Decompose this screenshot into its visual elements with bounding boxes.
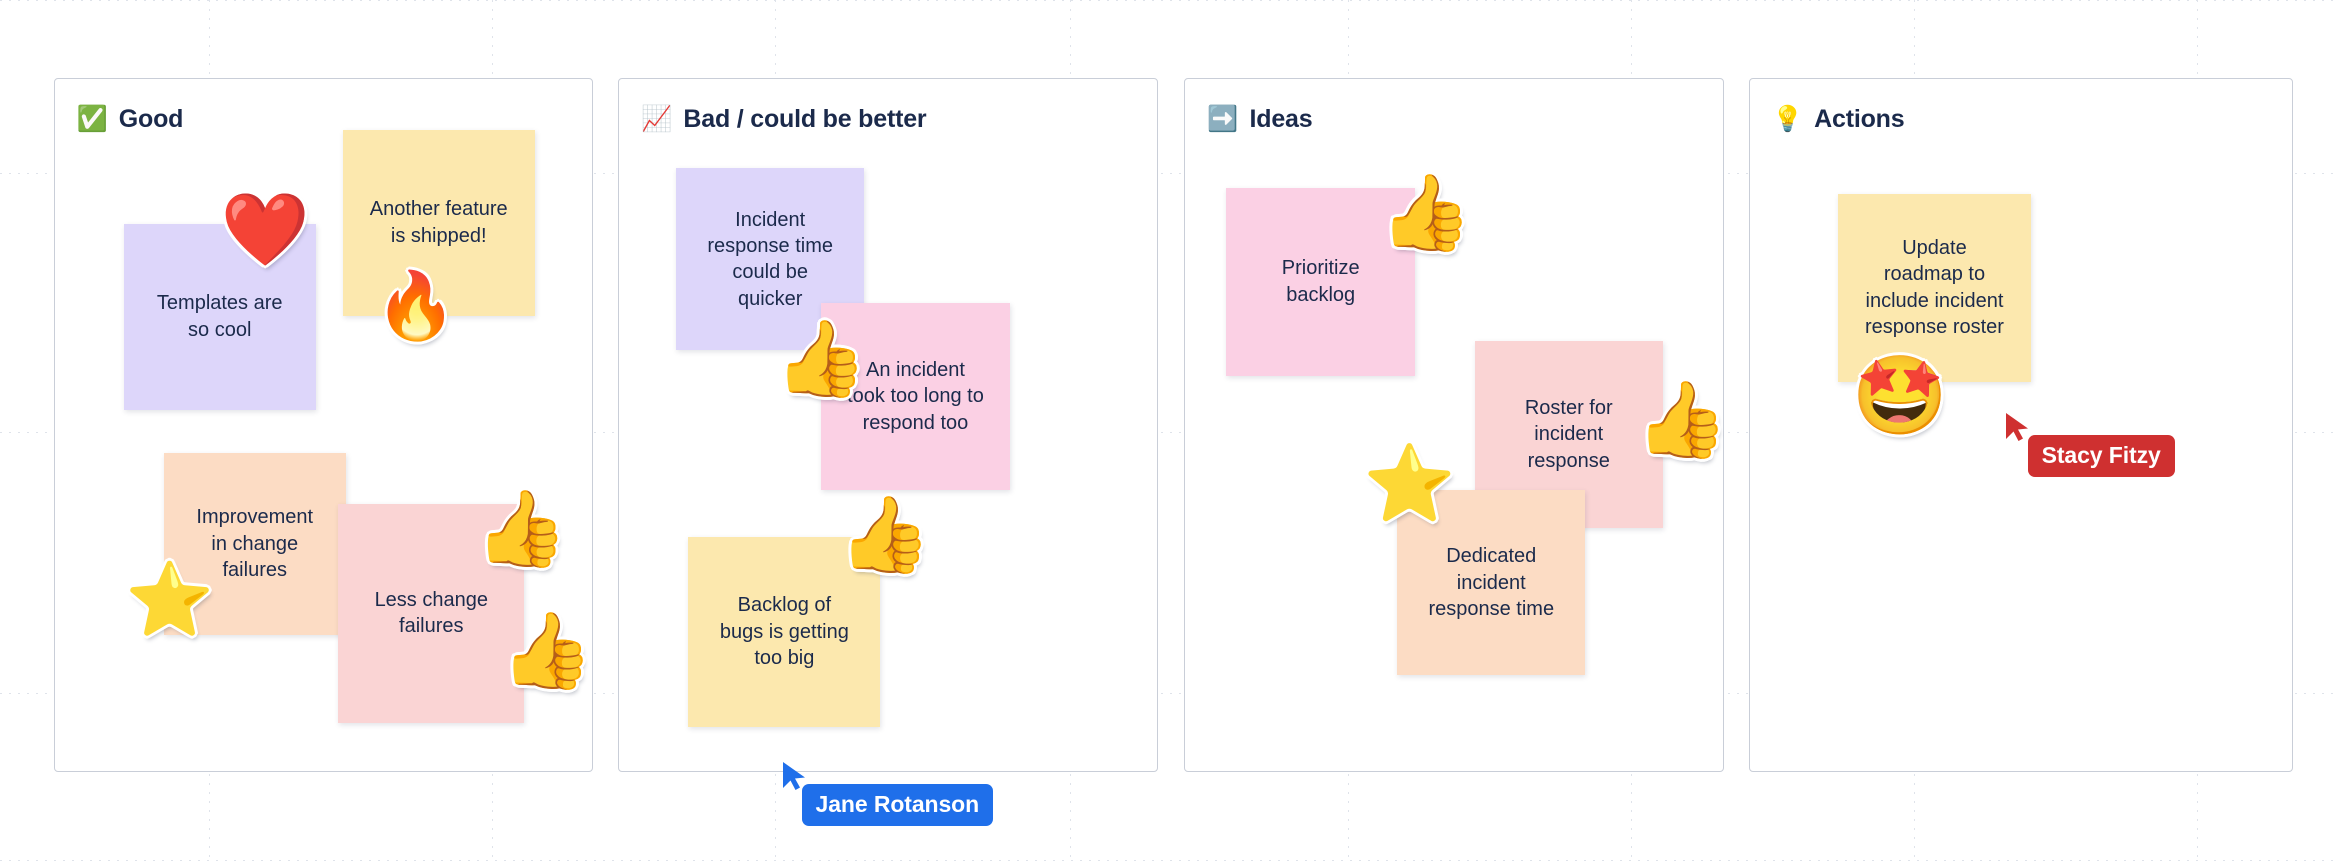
sticky-note-text: Less changefailures bbox=[375, 587, 488, 640]
chart-increasing-emoji: 📈 bbox=[641, 107, 672, 132]
column-header-actions: 💡Actions bbox=[1772, 105, 1904, 134]
column-title: Actions bbox=[1814, 105, 1904, 134]
sticky-note-text: Prioritizebacklog bbox=[1282, 255, 1360, 308]
fire-emoji[interactable]: 🔥 bbox=[375, 273, 457, 339]
cursor-name-label: Jane Rotanson bbox=[802, 784, 994, 826]
sticky-note-text: Backlog ofbugs is gettingtoo big bbox=[720, 592, 849, 671]
thumbs-up-emoji[interactable]: 👍 bbox=[839, 498, 932, 573]
cursor-name-label: Stacy Fitzy bbox=[2028, 435, 2175, 477]
thumbs-up-emoji[interactable]: 👍 bbox=[775, 322, 868, 397]
sticky-note-text: Another featureis shipped! bbox=[370, 196, 508, 249]
star-emoji[interactable]: ⭐ bbox=[1363, 447, 1456, 522]
sticky-note-text: Incidentresponse timecould bequicker bbox=[707, 207, 833, 313]
star-emoji[interactable]: ⭐ bbox=[125, 565, 214, 637]
column-header-ideas: ➡️Ideas bbox=[1207, 105, 1312, 134]
check-mark-button-emoji: ✅ bbox=[77, 107, 108, 132]
sticky-note-text: Roster forincidentresponse bbox=[1525, 395, 1613, 474]
right-arrow-emoji: ➡️ bbox=[1207, 107, 1238, 132]
sticky-note-text: Dedicatedincidentresponse time bbox=[1428, 543, 1554, 622]
column-header-bad: 📈Bad / could be better bbox=[641, 105, 926, 134]
thumbs-up-emoji[interactable]: 👍 bbox=[501, 614, 594, 689]
column-title: Bad / could be better bbox=[683, 105, 926, 134]
column-title: Ideas bbox=[1250, 105, 1313, 134]
sticky-note-text: Updateroadmap toinclude incidentresponse… bbox=[1865, 235, 2004, 341]
sticky-note-text: An incidenttook too long torespond too bbox=[847, 357, 984, 436]
red-heart-emoji[interactable]: ❤️ bbox=[220, 195, 309, 267]
thumbs-up-emoji[interactable]: 👍 bbox=[475, 492, 568, 567]
star-struck-emoji[interactable]: 🤩 bbox=[1852, 358, 1949, 436]
sticky-note-text: Templates areso cool bbox=[157, 290, 283, 343]
thumbs-up-emoji[interactable]: 👍 bbox=[1380, 176, 1473, 251]
column-title: Good bbox=[119, 105, 183, 134]
light-bulb-emoji: 💡 bbox=[1772, 107, 1803, 132]
grid-line-horizontal bbox=[0, 0, 2336, 1]
column-header-good: ✅Good bbox=[77, 105, 184, 134]
thumbs-up-emoji[interactable]: 👍 bbox=[1636, 383, 1729, 458]
